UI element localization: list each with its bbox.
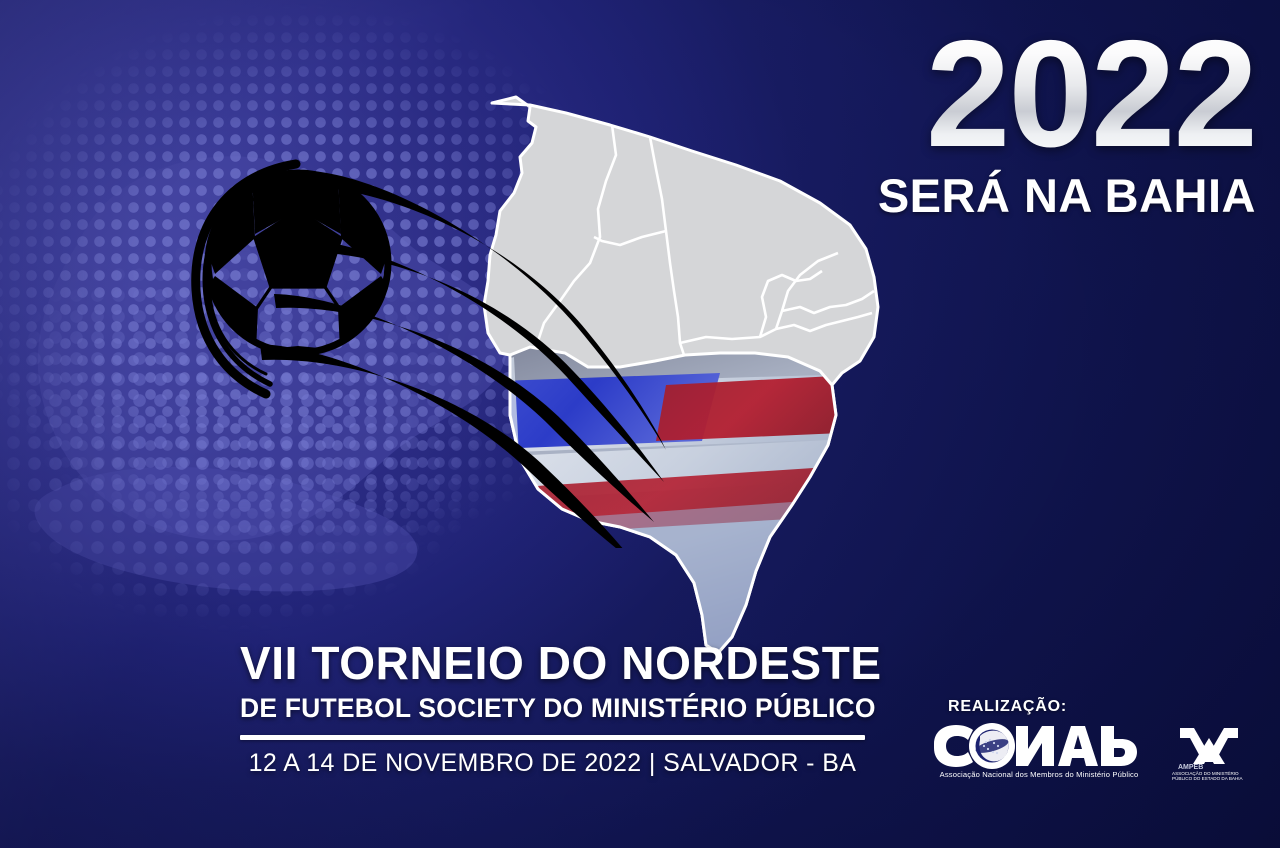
conamp-wordmark	[934, 725, 1137, 767]
logo-row: Associação Nacional dos Membros do Minis…	[930, 722, 1250, 780]
brazil-northeast-map	[470, 85, 890, 660]
halftone-dot-pattern	[0, 0, 770, 630]
soccer-ball-icon	[190, 158, 406, 410]
sponsor-logo-block: REALIZAÇÃO:	[930, 698, 1250, 780]
ampeb-line2: PÚBLICO DO ESTADO DA BAHIA	[1172, 775, 1244, 780]
paint-splat-shape	[0, 60, 640, 620]
ampeb-logo[interactable]: AMPEB ASSOCIAÇÃO DO MINISTÉRIO PÚBLICO D…	[1170, 722, 1248, 780]
event-subtitle: DE FUTEBOL SOCIETY DO MINISTÉRIO PÚBLICO	[240, 693, 865, 724]
year-text: 2022	[878, 22, 1256, 166]
motion-arc-icon	[196, 164, 296, 394]
year-headline-block: 2022 SERÁ NA BAHIA	[878, 22, 1256, 223]
event-date-location: 12 A 14 DE NOVEMBRO DE 2022 | SALVADOR -…	[240, 749, 865, 778]
title-divider	[240, 735, 865, 740]
map-landmass	[470, 97, 890, 660]
conamp-logo[interactable]: Associação Nacional dos Membros do Minis…	[930, 722, 1148, 780]
map-state-borders	[536, 125, 874, 355]
bahia-flag-fill	[470, 335, 890, 660]
soccer-ball-graphic	[178, 148, 698, 548]
conamp-globe-icon	[969, 723, 1015, 769]
event-title: VII TORNEIO DO NORDESTE	[240, 640, 865, 687]
speed-trail-icon	[260, 170, 666, 548]
poster-canvas: 2022 SERÁ NA BAHIA VII TORNEIO DO NORDES…	[0, 0, 1280, 848]
realization-label: REALIZAÇÃO:	[948, 698, 1250, 716]
event-title-block: VII TORNEIO DO NORDESTE DE FUTEBOL SOCIE…	[240, 640, 865, 778]
conamp-tagline: Associação Nacional dos Membros do Minis…	[940, 770, 1139, 779]
ampeb-acronym: AMPEB	[1178, 764, 1203, 771]
